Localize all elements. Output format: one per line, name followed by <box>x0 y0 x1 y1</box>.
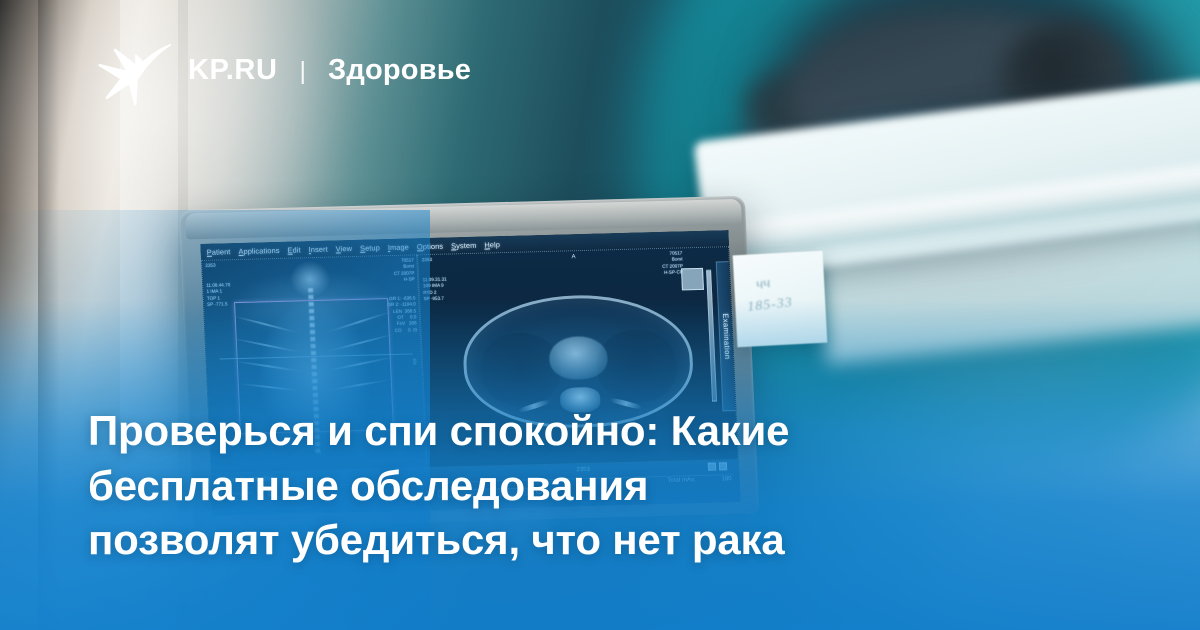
mediastinum-heart <box>548 336 608 380</box>
menu-item-system[interactable]: System <box>451 240 477 250</box>
tab-examination-label: Examination <box>721 313 732 359</box>
brand-name[interactable]: KP.RU <box>188 54 278 87</box>
axial-acq-info: 11.09.31.31 109 IMA 9 RTD 2 SP -953.7 <box>423 277 448 303</box>
header: KP.RU | Здоровье <box>96 34 471 106</box>
menu-item-options[interactable]: Options <box>417 241 444 251</box>
orientation-marker-anterior: A <box>571 254 575 260</box>
poster-canvas: Patient Applications Edit Insert View Se… <box>0 0 1200 630</box>
lung-right <box>595 329 679 404</box>
menu-item-insert[interactable]: Insert <box>308 244 327 253</box>
menu-item-applications[interactable]: Applications <box>238 245 279 255</box>
menu-item-view[interactable]: View <box>336 244 353 253</box>
viewport-scale-label: 10c <box>411 358 417 365</box>
handwriting-line-2: 185-33 <box>747 295 794 316</box>
menu-item-edit[interactable]: Edit <box>287 245 301 254</box>
viewport-series-id: 2353 <box>205 263 216 270</box>
headline-line-3: позволят убедиться, что нет рака <box>88 513 1130 568</box>
handwritten-note-card: чч 185-33 <box>733 251 828 348</box>
lung-left <box>479 332 563 407</box>
handwriting-line-1: чч <box>755 275 772 294</box>
headline-line-1: Проверься и спи спокойно: Какие <box>88 404 1130 459</box>
viewport-measurements: GR 1: -636.5 GR 2: -1194.0 LEN 366.5 OT … <box>387 295 417 334</box>
menu-item-help[interactable]: Help <box>484 240 500 249</box>
viewport-acq-info: 11.08.44.70 1 IMA 1 TOP 1 SP -771.5 <box>206 282 231 308</box>
menu-item-patient[interactable]: Patient <box>207 247 231 257</box>
brand-separator: | <box>300 57 307 86</box>
axial-series-id: 2353 <box>422 257 433 264</box>
axial-patient-info: 70517 Borst CT 2007P H-SP-CR <box>662 250 684 276</box>
menu-item-setup[interactable]: Setup <box>360 243 380 253</box>
headline-line-2: бесплатные обследования <box>88 459 1130 514</box>
window-level-preview[interactable] <box>681 268 704 291</box>
brand-lockup: KP.RU | Здоровье <box>188 54 471 87</box>
viewport-patient-info: 70517 Borst CT 2007P H-SP <box>393 257 415 283</box>
section-name[interactable]: Здоровье <box>328 54 471 87</box>
menu-item-image[interactable]: Image <box>388 242 409 252</box>
headline: Проверься и спи спокойно: Какие бесплатн… <box>88 404 1130 568</box>
swallow-bird-logo-icon[interactable] <box>96 34 172 106</box>
